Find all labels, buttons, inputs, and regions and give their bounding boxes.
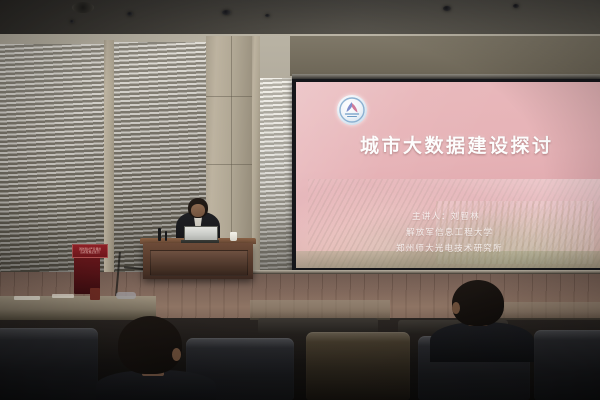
audience-member-right-head [452, 280, 504, 326]
podium-laptop-base [181, 240, 219, 243]
slide-subtitle-line-2: 解放军信息工程大学 [406, 226, 493, 238]
projection-screen[interactable]: 城市大数据建设探讨 主讲人：刘智林 解放军信息工程大学 郑州师大光电技术研究所 [296, 82, 600, 268]
upper-wall-band [290, 36, 600, 76]
podium-microphone [165, 231, 167, 241]
ceiling-light-icon [70, 20, 74, 23]
slide-subtitle-line-3: 郑州师大光电技术研究所 [396, 242, 503, 254]
audience-member-left-ear [172, 348, 181, 361]
auditorium-seat[interactable] [534, 330, 600, 400]
presenter-face [191, 204, 205, 217]
stage-front-edge [236, 270, 600, 274]
seat-highlight [534, 330, 600, 340]
seat-highlight [306, 332, 410, 342]
podium-microphone [158, 228, 161, 241]
slatted-wall-shading [258, 78, 292, 274]
university-emblem-logo [337, 95, 367, 125]
audience-member-right-shoulders [430, 322, 534, 362]
desk-object [116, 292, 136, 299]
podium-front-panel [150, 250, 248, 276]
marble-column [252, 36, 260, 286]
seat-highlight [186, 338, 294, 348]
desk-cup [90, 288, 100, 300]
desk-paper [52, 294, 74, 298]
audience-member-right-ear [452, 302, 460, 314]
audience-member-left-head [118, 316, 182, 374]
slide-subtitle-line-1: 主讲人：刘智林 [412, 210, 480, 222]
ceiling-light-icon [513, 4, 519, 8]
auditorium-seat[interactable] [306, 332, 410, 400]
seat-highlight [0, 328, 98, 340]
fire-equipment-sign: 消防器材严禁挪用 违者按规定处罚 [72, 244, 108, 258]
lecture-hall-photo: 城市大数据建设探讨 主讲人：刘智林 解放军信息工程大学 郑州师大光电技术研究所 … [0, 0, 600, 400]
slide-title: 城市大数据建设探讨 [360, 131, 554, 158]
ceiling-light-icon [265, 14, 270, 17]
ceiling-light-icon [127, 12, 133, 16]
ceiling-light-icon [443, 6, 451, 11]
front-desk [250, 300, 390, 320]
fire-sign-line-2: 违者按规定处罚 [80, 251, 100, 254]
desk-paper [14, 296, 40, 300]
water-cup [230, 232, 237, 241]
column-seam [206, 164, 258, 165]
ceiling-light-icon [222, 10, 231, 15]
column-seam [206, 96, 258, 97]
ceiling-speaker-icon [72, 2, 94, 13]
